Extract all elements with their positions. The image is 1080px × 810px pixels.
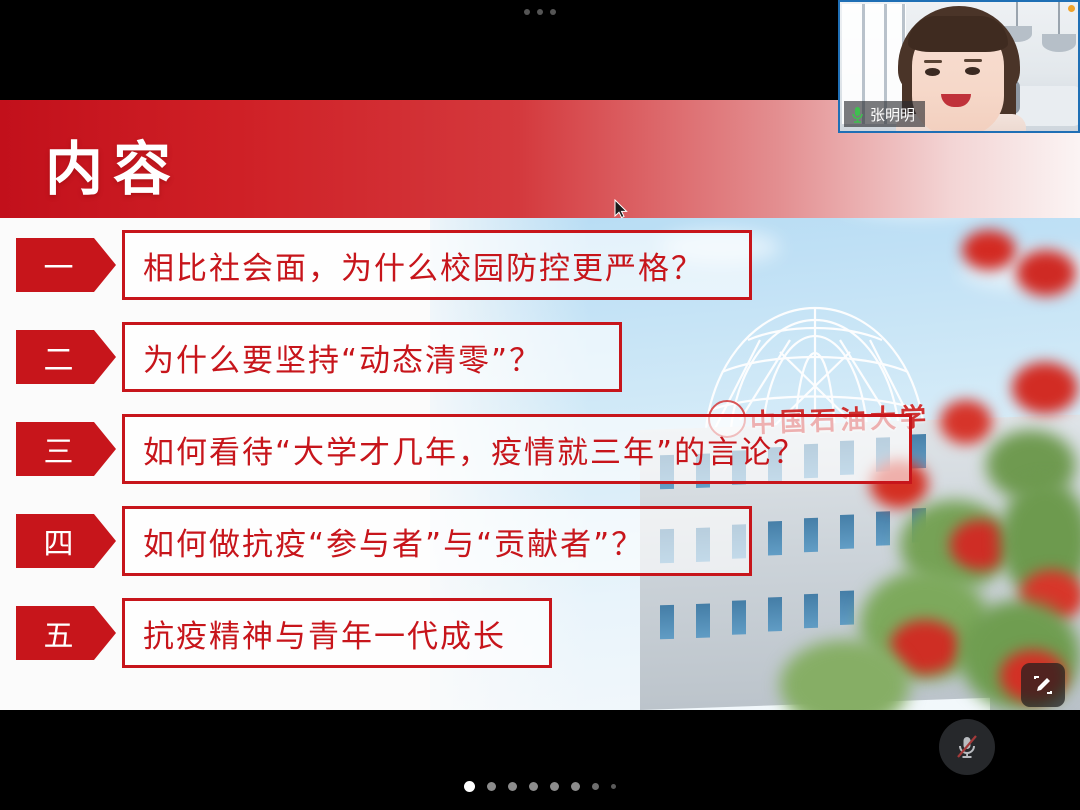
list-item[interactable]: 二 为什么要坚持“动态清零”？ <box>0 320 1080 412</box>
item-number-badge: 五 <box>16 606 116 660</box>
page-title: 内容 <box>45 122 181 206</box>
item-number-label: 五 <box>44 611 89 655</box>
page-dot[interactable] <box>550 782 559 791</box>
list-item[interactable]: 三 如何看待“大学才几年，疫情就三年”的言论？ <box>0 412 1080 504</box>
item-number-label: 三 <box>44 427 89 471</box>
item-text: 如何看待“大学才几年，疫情就三年”的言论？ <box>143 427 806 472</box>
list-item[interactable]: 四 如何做抗疫“参与者”与“贡献者”？ <box>0 504 1080 596</box>
more-dots-icon <box>550 9 556 15</box>
item-text: 相比社会面，为什么校园防控更严格？ <box>143 243 704 288</box>
recording-status-dot <box>1068 5 1075 12</box>
annotate-button[interactable] <box>1021 663 1065 707</box>
list-item[interactable]: 一 相比社会面，为什么校园防控更严格？ <box>0 228 1080 320</box>
avatar-eye <box>965 67 980 75</box>
item-text-box: 如何做抗疫“参与者”与“贡献者”？ <box>122 506 752 576</box>
page-dot[interactable] <box>508 782 517 791</box>
item-text-box: 为什么要坚持“动态清零”？ <box>122 322 622 392</box>
slide-content-list: 一 相比社会面，为什么校园防控更严格？ 二 为什么要坚持“动态清零”？ 三 <box>0 228 1080 688</box>
item-number-label: 四 <box>44 519 89 563</box>
pencil-annotate-icon <box>1031 673 1055 697</box>
more-dots-icon <box>524 9 530 15</box>
presentation-slide[interactable]: 中国石油大学 中国石油大学 <box>0 100 1080 710</box>
screen-share-window: 中国石油大学 中国石油大学 <box>0 0 1080 810</box>
item-text-box: 如何看待“大学才几年，疫情就三年”的言论？ <box>122 414 912 484</box>
more-dots-icon <box>537 9 543 15</box>
avatar-bangs <box>908 16 1008 52</box>
item-number-badge: 四 <box>16 514 116 568</box>
participant-name-bar: 张明明 <box>844 101 925 127</box>
page-dot-active[interactable] <box>464 781 475 792</box>
page-dot[interactable] <box>571 782 580 791</box>
list-item[interactable]: 五 抗疫精神与青年一代成长 <box>0 596 1080 688</box>
item-text: 抗疫精神与青年一代成长 <box>143 611 506 656</box>
item-number-badge: 三 <box>16 422 116 476</box>
microphone-icon <box>851 106 864 123</box>
page-dot[interactable] <box>592 783 599 790</box>
item-number-label: 二 <box>44 335 89 379</box>
avatar-eyebrow <box>964 59 982 62</box>
avatar-eye <box>925 68 940 76</box>
page-dot[interactable] <box>487 782 496 791</box>
participant-name: 张明明 <box>870 104 915 125</box>
mute-microphone-button[interactable] <box>939 719 995 775</box>
item-number-badge: 一 <box>16 238 116 292</box>
avatar-eyebrow <box>924 60 942 63</box>
mouse-pointer-icon <box>614 199 628 219</box>
item-number-label: 一 <box>44 243 89 287</box>
page-dot[interactable] <box>529 782 538 791</box>
item-text: 为什么要坚持“动态清零”？ <box>143 335 542 380</box>
microphone-muted-icon <box>952 732 982 762</box>
item-text: 如何做抗疫“参与者”与“贡献者”？ <box>143 519 644 564</box>
item-text-box: 相比社会面，为什么校园防控更严格？ <box>122 230 752 300</box>
page-indicator[interactable] <box>0 781 1080 792</box>
participant-video-tile[interactable]: 张明明 <box>838 0 1080 133</box>
item-text-box: 抗疫精神与青年一代成长 <box>122 598 552 668</box>
page-dot[interactable] <box>611 784 616 789</box>
item-number-badge: 二 <box>16 330 116 384</box>
